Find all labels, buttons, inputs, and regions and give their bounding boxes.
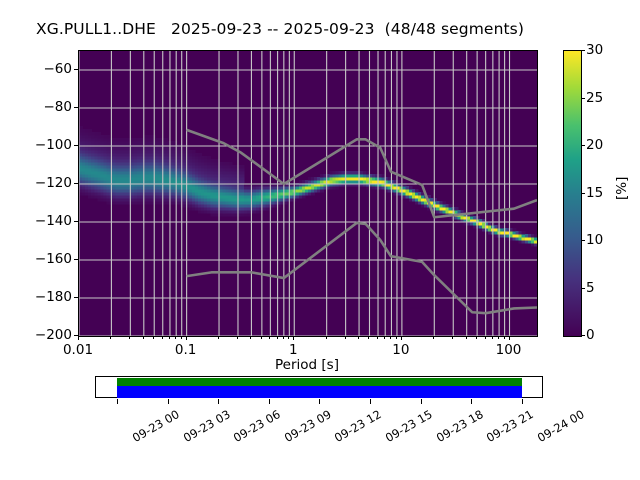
coverage-timeline[interactable] [95,376,543,398]
timeline-tick-label: 09-24 00 [535,407,587,445]
colorbar-tick-mark [581,240,585,241]
x-tick-mark [277,336,278,339]
x-tick-mark [498,336,499,339]
y-tick-label: −200 [12,327,72,343]
page-title: XG.PULL1..DHE 2025-09-23 -- 2025-09-23 (… [0,20,560,38]
colorbar-tick-label: 5 [586,280,595,296]
y-tick-mark [74,297,78,298]
x-tick-label: 10 [392,342,409,358]
x-tick-mark [78,336,79,340]
timeline-tick-mark [471,399,472,404]
x-tick-mark [384,336,385,339]
x-tick-mark [269,336,270,339]
x-tick-mark [433,336,434,339]
x-tick-label: 100 [496,342,522,358]
timeline-tick-label: 09-23 18 [434,407,486,445]
timeline-tick-mark [218,399,219,404]
timeline-tick-label: 09-23 12 [332,407,384,445]
y-tick-mark [74,69,78,70]
x-tick-mark [396,336,397,339]
colorbar-label: [%] [614,177,630,200]
colorbar-tick-mark [581,288,585,289]
x-tick-mark [169,336,170,339]
x-tick-mark [129,336,130,339]
timeline-tick-mark [269,399,270,404]
x-axis-label: Period [s] [78,357,536,373]
timeline-tick-label: 09-23 06 [231,407,283,445]
colorbar-tick-mark [581,193,585,194]
ppsd-axes [78,50,538,337]
y-tick-label: −180 [12,289,72,305]
x-tick-mark [162,336,163,339]
colorbar-tick-label: 10 [586,232,603,248]
x-tick-mark [181,336,182,339]
x-tick-mark [218,336,219,339]
x-tick-mark [153,336,154,339]
x-tick-mark [452,336,453,339]
y-tick-mark [74,259,78,260]
x-tick-mark [293,336,294,340]
y-tick-mark [74,145,78,146]
timeline-tick-mark [522,399,523,404]
ppsd-plot-area [79,51,537,336]
timeline-tick-mark [319,399,320,404]
x-tick-mark [186,336,187,340]
y-tick-label: −120 [12,175,72,191]
colorbar-tick-label: 0 [586,327,595,343]
x-tick-label: 0.01 [63,342,93,358]
x-tick-mark [175,336,176,339]
x-tick-mark [476,336,477,339]
x-tick-mark [466,336,467,339]
colorbar [563,50,582,337]
coverage-bar-data [117,378,522,386]
x-tick-mark [345,336,346,339]
x-tick-mark [377,336,378,339]
x-tick-mark [492,336,493,339]
colorbar-tick-label: 25 [586,90,603,106]
y-tick-label: −60 [12,61,72,77]
x-tick-mark [358,336,359,339]
x-tick-mark [250,336,251,339]
noise-model-curves [79,51,537,336]
x-tick-mark [283,336,284,339]
x-tick-label: 1 [289,342,298,358]
x-tick-mark [485,336,486,339]
timeline-tick-label: 09-23 15 [383,407,435,445]
colorbar-tick-label: 30 [586,42,603,58]
x-tick-mark [401,336,402,340]
timeline-tick-mark [117,399,118,404]
timeline-tick-mark [370,399,371,404]
x-tick-mark [368,336,369,339]
x-tick-mark [509,336,510,340]
colorbar-tick-mark [581,145,585,146]
x-tick-mark [261,336,262,339]
colorbar-tick-label: 15 [586,185,603,201]
y-tick-label: −100 [12,137,72,153]
x-tick-mark [326,336,327,339]
timeline-tick-mark [168,399,169,404]
coverage-bar-psd [117,386,522,398]
colorbar-tick-mark [581,98,585,99]
colorbar-tick-mark [581,335,585,336]
y-tick-mark [74,183,78,184]
y-tick-label: −140 [12,213,72,229]
y-tick-label: −160 [12,251,72,267]
y-tick-label: −80 [12,99,72,115]
timeline-tick-label: 09-23 21 [484,407,536,445]
x-tick-mark [110,336,111,339]
x-tick-mark [237,336,238,339]
colorbar-tick-label: 20 [586,137,603,153]
colorbar-tick-mark [581,50,585,51]
timeline-tick-label: 09-23 09 [282,407,334,445]
timeline-tick-label: 09-23 03 [181,407,233,445]
x-tick-mark [288,336,289,339]
y-tick-mark [74,221,78,222]
timeline-tick-label: 09-23 00 [130,407,182,445]
y-tick-mark [74,107,78,108]
x-tick-mark [390,336,391,339]
x-tick-mark [143,336,144,339]
x-tick-mark [504,336,505,339]
x-tick-label: 0.1 [175,342,196,358]
timeline-tick-mark [421,399,422,404]
